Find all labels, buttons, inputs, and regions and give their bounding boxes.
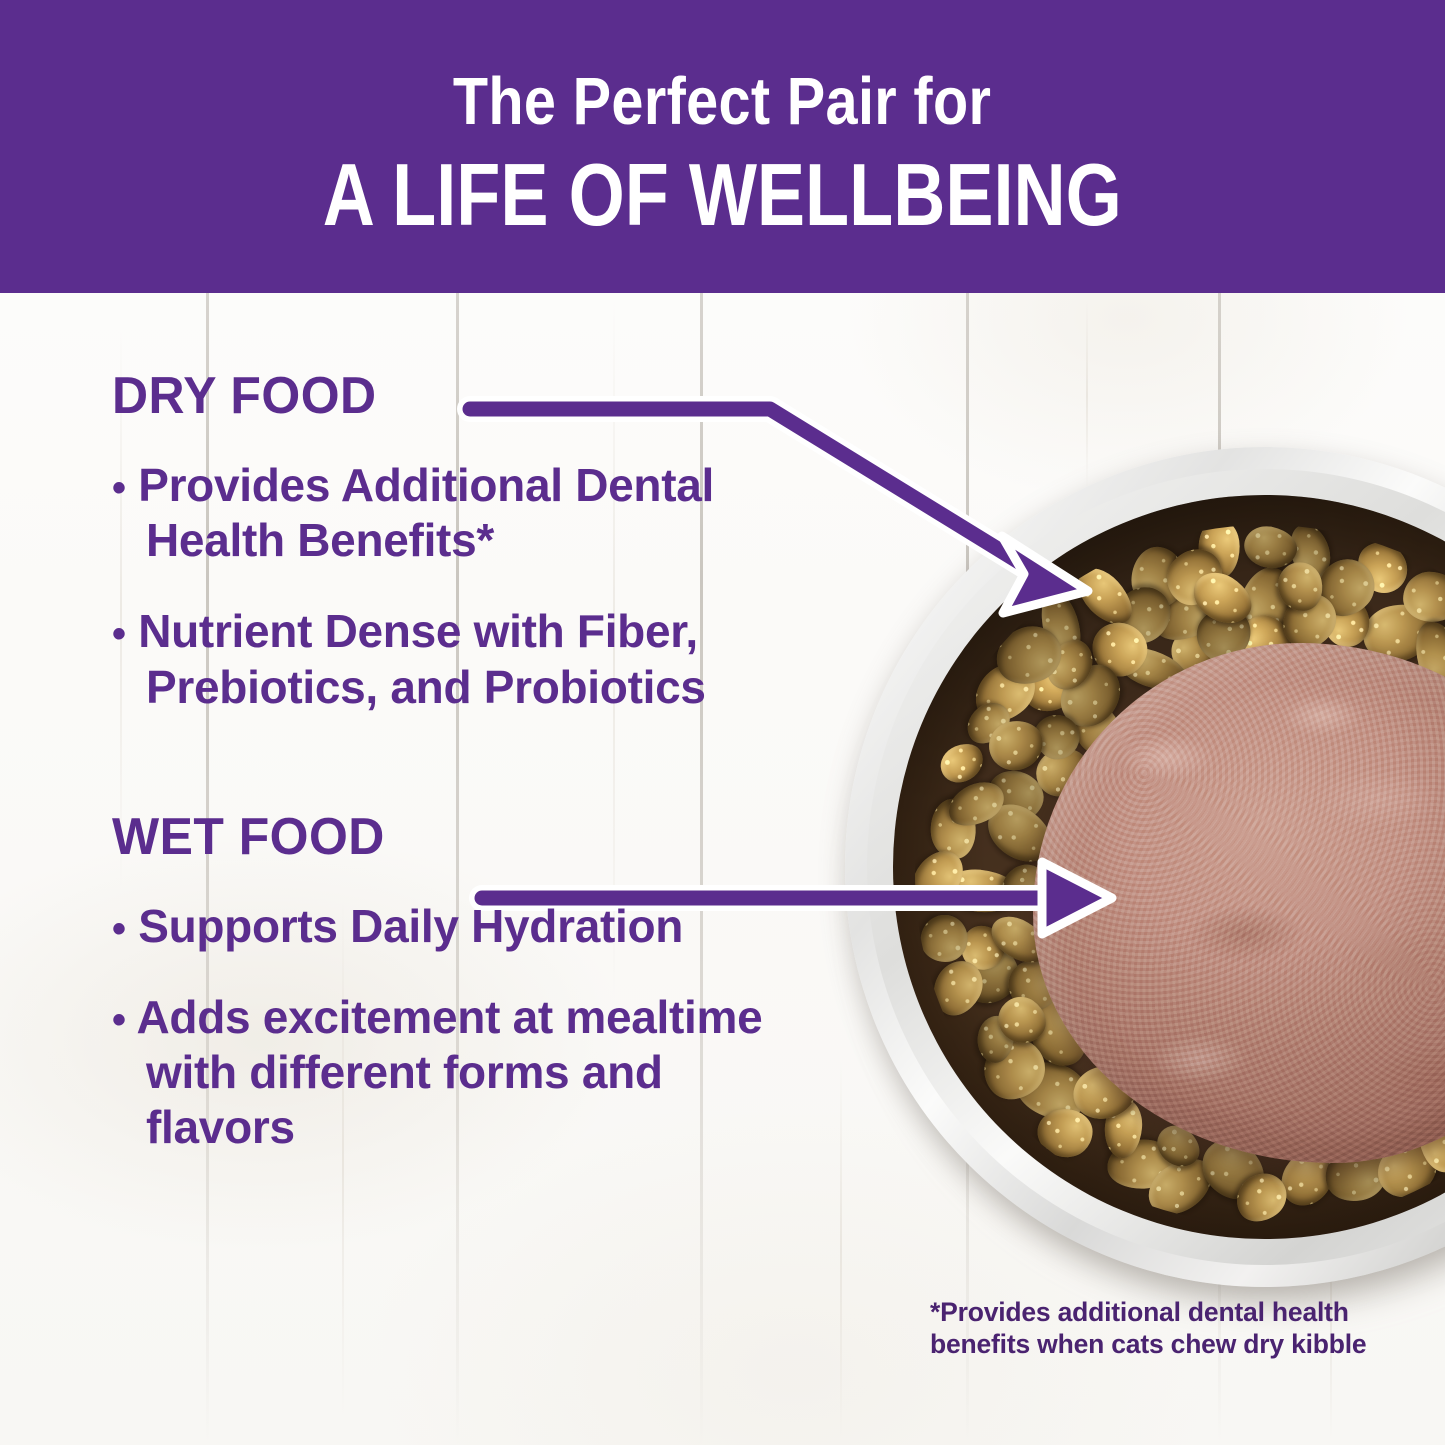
bullet-text: Supports Daily Hydration — [138, 900, 683, 952]
section-title-wet-food: WET FOOD — [112, 811, 765, 863]
benefits-copy: DRY FOOD • Provides Additional Dental He… — [112, 370, 792, 1156]
bullet-item: • Nutrient Dense with Fiber, Prebiotics,… — [112, 604, 792, 714]
section-title-dry-food: DRY FOOD — [112, 370, 765, 422]
bullet-dot-icon: • — [112, 612, 126, 656]
kibble-piece — [919, 913, 969, 963]
bullet-item: • Adds excitement at mealtime with diffe… — [112, 990, 792, 1156]
bullet-item: • Supports Daily Hydration — [112, 899, 792, 954]
pet-food-bowl-photo — [845, 447, 1445, 1307]
footnote-text: *Provides additional dental health benef… — [930, 1296, 1400, 1361]
bullet-dot-icon: • — [112, 998, 126, 1042]
bullet-text: Provides Additional Dental Health Benefi… — [138, 459, 714, 566]
poster-canvas: The Perfect Pair for A LIFE OF WELLBEING… — [0, 0, 1445, 1445]
header-line-2: A LIFE OF WELLBEING — [323, 151, 1122, 239]
header-banner: The Perfect Pair for A LIFE OF WELLBEING — [0, 0, 1445, 293]
bullet-text: Adds excitement at mealtime with differe… — [137, 991, 763, 1153]
wet-food-section: WET FOOD • Supports Daily Hydration • Ad… — [112, 811, 792, 1156]
wood-grain — [840, 1060, 842, 1440]
dry-food-section: DRY FOOD • Provides Additional Dental He… — [112, 370, 792, 715]
bullet-dot-icon: • — [112, 907, 126, 951]
bullet-item: • Provides Additional Dental Health Bene… — [112, 458, 792, 568]
bullet-text: Nutrient Dense with Fiber, Prebiotics, a… — [138, 605, 705, 712]
header-line-1: The Perfect Pair for — [453, 68, 991, 136]
bullet-dot-icon: • — [112, 466, 126, 510]
